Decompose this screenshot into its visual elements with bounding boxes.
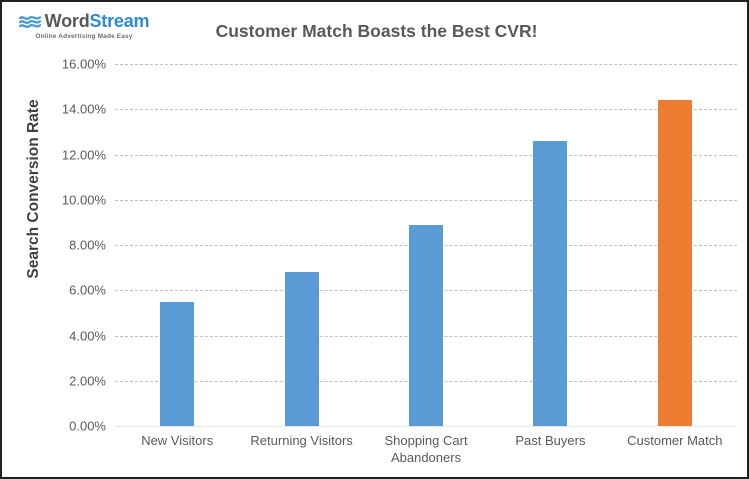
y-axis-title: Search Conversion Rate	[25, 39, 43, 339]
y-tick-label: 14.00%	[62, 102, 106, 117]
bar-band	[613, 64, 737, 426]
chart-card: WordStream Online Advertising Made Easy …	[0, 0, 749, 479]
y-tick-label: 16.00%	[62, 57, 106, 72]
y-tick-label: 2.00%	[69, 373, 106, 388]
bar[interactable]	[409, 225, 443, 426]
bar[interactable]	[285, 272, 319, 426]
plot-area: 0.00%2.00%4.00%6.00%8.00%10.00%12.00%14.…	[115, 64, 737, 426]
chart-title: Customer Match Boasts the Best CVR!	[2, 21, 749, 42]
x-category-label: Past Buyers	[488, 432, 612, 466]
x-axis-categories: New VisitorsReturning VisitorsShopping C…	[115, 432, 737, 466]
y-tick-label: 0.00%	[69, 419, 106, 434]
y-tick-label: 8.00%	[69, 238, 106, 253]
x-category-label: Shopping Cart Abandoners	[364, 432, 488, 466]
x-category-label: New Visitors	[115, 432, 239, 466]
bar-band	[115, 64, 239, 426]
x-category-label: Customer Match	[613, 432, 737, 466]
bar[interactable]	[658, 100, 692, 426]
bar-band	[239, 64, 363, 426]
bar-band	[364, 64, 488, 426]
y-tick-label: 4.00%	[69, 328, 106, 343]
bar-series	[115, 64, 737, 426]
bar-band	[488, 64, 612, 426]
bar[interactable]	[533, 141, 567, 426]
x-category-label: Returning Visitors	[239, 432, 363, 466]
y-tick-label: 12.00%	[62, 147, 106, 162]
y-tick-label: 10.00%	[62, 192, 106, 207]
y-tick-label: 6.00%	[69, 283, 106, 298]
bar[interactable]	[160, 302, 194, 426]
